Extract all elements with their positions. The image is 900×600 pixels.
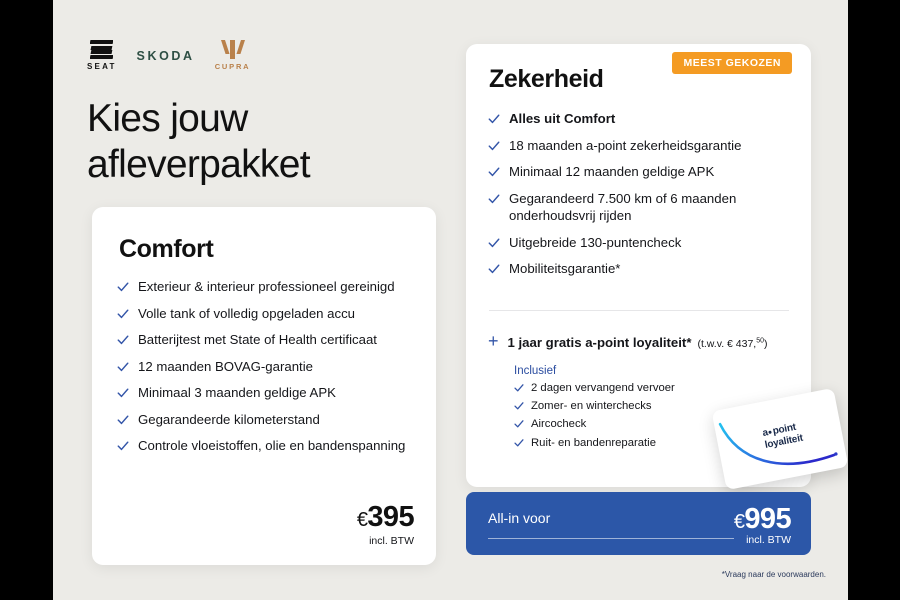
seat-mark-icon bbox=[90, 40, 113, 60]
comfort-card-title: Comfort bbox=[119, 235, 213, 264]
feature-text: Gegarandeerd 7.500 km of 6 maanden onder… bbox=[509, 190, 793, 225]
list-item: Uitgebreide 130-puntencheck bbox=[488, 234, 793, 252]
check-icon bbox=[117, 387, 129, 399]
check-icon bbox=[117, 308, 129, 320]
card-divider bbox=[489, 310, 789, 311]
list-item: 18 maanden a-point zekerheidsgarantie bbox=[488, 137, 793, 155]
package-card-zekerheid[interactable]: MEEST GEKOZEN Zekerheid Alles uit Comfor… bbox=[466, 44, 811, 487]
loyalty-headline: 1 jaar gratis a-point loyaliteit* bbox=[508, 335, 692, 350]
list-item: Batterijtest met State of Health certifi… bbox=[117, 331, 417, 349]
list-item: Controle vloeistoffen, olie en bandenspa… bbox=[117, 437, 417, 455]
footnote-text: *Vraag naar de voorwaarden. bbox=[722, 570, 826, 579]
page-title-line-1: Kies jouw bbox=[87, 96, 310, 142]
seat-wordmark: SEAT bbox=[87, 62, 117, 71]
all-in-rule bbox=[488, 538, 734, 539]
check-icon bbox=[514, 383, 524, 393]
check-icon bbox=[488, 166, 500, 178]
loyalty-value-note: (t.w.v. € 437,50) bbox=[697, 338, 767, 350]
list-item: Minimaal 12 maanden geldige APK bbox=[488, 163, 793, 181]
included-title: Inclusief bbox=[514, 365, 798, 377]
status-badge-meest-gekozen: MEEST GEKOZEN bbox=[672, 52, 792, 74]
feature-text: 18 maanden a-point zekerheidsgarantie bbox=[509, 137, 741, 155]
check-icon bbox=[488, 237, 500, 249]
check-icon bbox=[117, 414, 129, 426]
comfort-price-amount: €395 bbox=[357, 501, 414, 534]
feature-text: Minimaal 3 maanden geldige APK bbox=[138, 384, 336, 402]
list-item: Mobiliteitsgarantie* bbox=[488, 260, 793, 278]
plus-icon: + bbox=[488, 334, 499, 348]
feature-text: Batterijtest met State of Health certifi… bbox=[138, 331, 377, 349]
zekerheid-card-title: Zekerheid bbox=[489, 65, 604, 94]
skoda-logo: SKODA bbox=[137, 49, 195, 63]
list-item: 2 dagen vervangend vervoer bbox=[514, 381, 798, 396]
check-icon bbox=[488, 193, 500, 205]
feature-text: Alles uit Comfort bbox=[509, 110, 615, 128]
check-icon bbox=[117, 334, 129, 346]
page-title: Kies jouw afleverpakket bbox=[87, 96, 310, 188]
list-item: Gegarandeerde kilometerstand bbox=[117, 411, 417, 429]
brand-logo-row: SEAT SKODA CUPRA bbox=[87, 40, 250, 71]
feature-text: Volle tank of volledig opgeladen accu bbox=[138, 305, 355, 323]
check-icon bbox=[117, 361, 129, 373]
included-text: Zomer- en winterchecks bbox=[531, 399, 652, 414]
feature-text: Exterieur & interieur professioneel gere… bbox=[138, 278, 395, 296]
all-in-price-bar: All-in voor €995 incl. BTW bbox=[466, 492, 811, 555]
loyalty-headline-row: + 1 jaar gratis a-point loyaliteit*(t.w.… bbox=[488, 334, 798, 352]
feature-text: Uitgebreide 130-puntencheck bbox=[509, 234, 681, 252]
comfort-price-block: €395 incl. BTW bbox=[357, 501, 414, 547]
promo-canvas: SEAT SKODA CUPRA Kies jouw afleverpakket… bbox=[53, 0, 848, 600]
feature-text: Gegarandeerde kilometerstand bbox=[138, 411, 320, 429]
check-icon bbox=[488, 113, 500, 125]
feature-text: Mobiliteitsgarantie* bbox=[509, 260, 620, 278]
check-icon bbox=[488, 263, 500, 275]
included-text: 2 dagen vervangend vervoer bbox=[531, 381, 675, 396]
check-icon bbox=[117, 281, 129, 293]
cupra-wordmark: CUPRA bbox=[215, 62, 251, 71]
check-icon bbox=[514, 438, 524, 448]
all-in-price-amount: €995 bbox=[734, 503, 791, 536]
page-title-line-2: afleverpakket bbox=[87, 142, 310, 188]
check-icon bbox=[514, 401, 524, 411]
list-item: Gegarandeerd 7.500 km of 6 maanden onder… bbox=[488, 190, 793, 225]
list-item: Exterieur & interieur professioneel gere… bbox=[117, 278, 417, 296]
list-item: Alles uit Comfort bbox=[488, 110, 793, 128]
list-item: Volle tank of volledig opgeladen accu bbox=[117, 305, 417, 323]
feature-text: 12 maanden BOVAG-garantie bbox=[138, 358, 313, 376]
list-item: 12 maanden BOVAG-garantie bbox=[117, 358, 417, 376]
check-icon bbox=[488, 140, 500, 152]
cupra-logo: CUPRA bbox=[215, 40, 251, 71]
all-in-price-note: incl. BTW bbox=[746, 534, 791, 546]
check-icon bbox=[117, 440, 129, 452]
comfort-feature-list: Exterieur & interieur professioneel gere… bbox=[117, 278, 417, 464]
list-item: Minimaal 3 maanden geldige APK bbox=[117, 384, 417, 402]
feature-text: Controle vloeistoffen, olie en bandenspa… bbox=[138, 437, 405, 455]
comfort-price-note: incl. BTW bbox=[357, 535, 414, 547]
cupra-mark-icon bbox=[220, 40, 246, 59]
included-text: Aircocheck bbox=[531, 417, 586, 432]
seat-logo: SEAT bbox=[87, 40, 117, 71]
feature-text: Minimaal 12 maanden geldige APK bbox=[509, 163, 714, 181]
all-in-label: All-in voor bbox=[488, 510, 550, 526]
zekerheid-feature-list: Alles uit Comfort18 maanden a-point zeke… bbox=[488, 110, 793, 287]
check-icon bbox=[514, 419, 524, 429]
included-text: Ruit- en bandenreparatie bbox=[531, 436, 656, 451]
package-card-comfort[interactable]: Comfort Exterieur & interieur profession… bbox=[92, 207, 436, 565]
